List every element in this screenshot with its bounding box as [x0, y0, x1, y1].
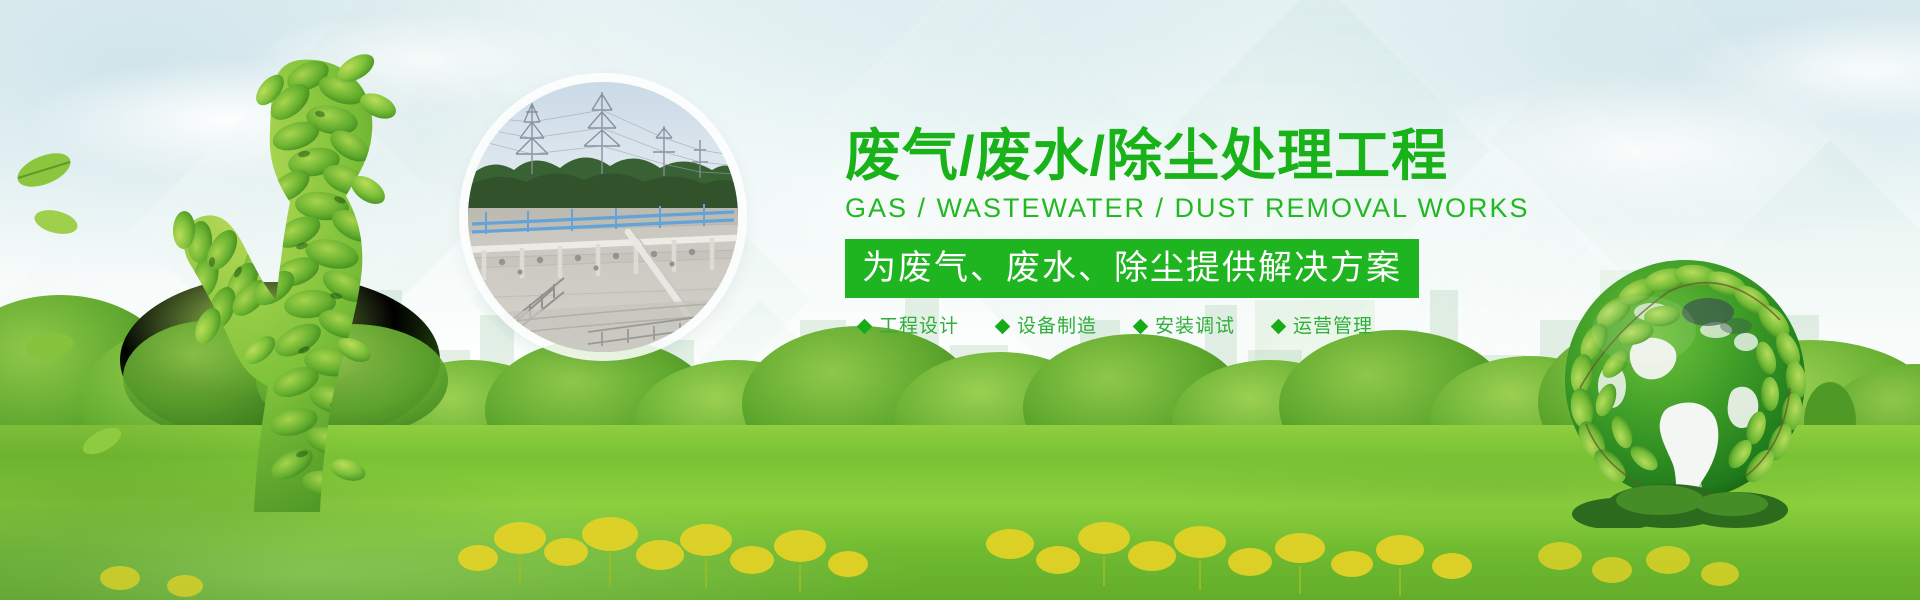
- service-bullet-item[interactable]: 安装调试: [1135, 317, 1235, 336]
- service-bullet-label: 安装调试: [1155, 317, 1235, 336]
- service-bullet-item[interactable]: 设备制造: [997, 317, 1097, 336]
- floating-leaf-icon-left-3: [20, 320, 80, 372]
- page-title: 废气/废水/除尘处理工程: [845, 128, 1625, 184]
- diamond-bullet-icon: [857, 319, 873, 335]
- service-bullet-label: 设备制造: [1017, 317, 1097, 336]
- eco-engineering-hero-banner: 废气/废水/除尘处理工程 GAS / WASTEWATER / DUST REM…: [0, 0, 1920, 600]
- english-subtitle: GAS / WASTEWATER / DUST REMOVAL WORKS: [845, 195, 1625, 222]
- diamond-bullet-icon: [1271, 319, 1287, 335]
- wastewater-plant-circle-photo: [468, 82, 738, 352]
- slogan-ribbon: 为废气、废水、除尘提供解决方案: [845, 239, 1419, 298]
- service-bullet-label: 运营管理: [1293, 317, 1373, 336]
- diamond-bullet-icon: [995, 319, 1011, 335]
- service-bullet-item[interactable]: 运营管理: [1273, 317, 1373, 336]
- floating-leaf-icon-left-2: [28, 196, 84, 252]
- service-bullet-label: 工程设计: [879, 317, 959, 336]
- diamond-bullet-icon: [1133, 319, 1149, 335]
- banner-copy-block: 废气/废水/除尘处理工程 GAS / WASTEWATER / DUST REM…: [845, 128, 1625, 336]
- plant-photo-illustration: [468, 82, 738, 352]
- service-bullet-item[interactable]: 工程设计: [859, 317, 959, 336]
- service-bullet-list: 工程设计 设备制造 安装调试 运营管理: [845, 317, 1625, 336]
- floating-leaf-icon-left-4: [76, 418, 128, 464]
- leaf-person-figure: [150, 50, 410, 520]
